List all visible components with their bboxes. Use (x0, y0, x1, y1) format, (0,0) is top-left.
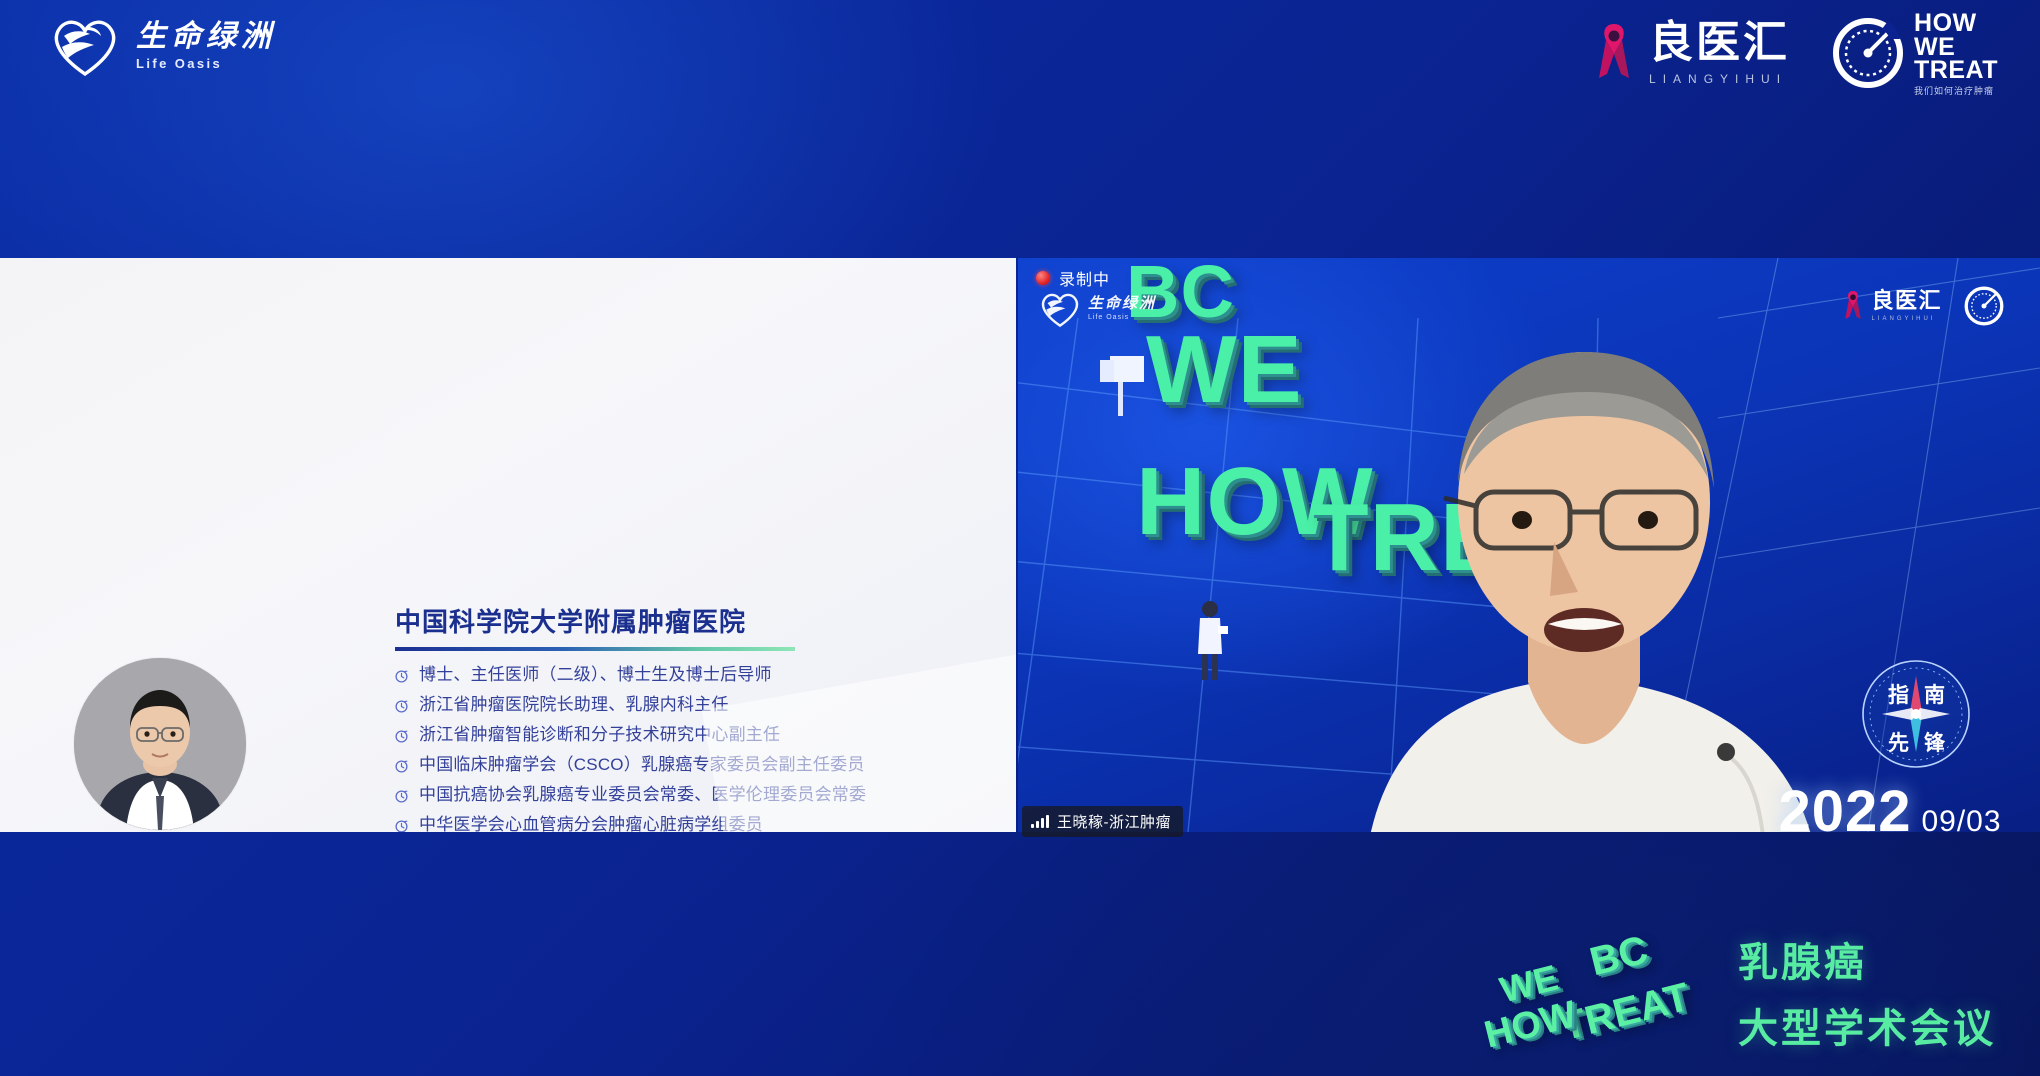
video-overlay-logos: 良医汇 LIANGYIHUI (1842, 286, 2004, 326)
video-presenter (1328, 306, 1888, 832)
credential-text: 浙江省肿瘤医院院长助理、乳腺内科主任 (419, 695, 729, 716)
credential-item: 中国抗癌协会乳腺癌专业委员会常委、医学伦理委员会常委 (395, 785, 992, 808)
liangyihui-cn: 良医汇 (1649, 21, 1790, 65)
credential-text: 博士、主任医师（二级）、博士生及博士后导师 (419, 665, 772, 686)
credential-text: 中华医学会心血管病分会肿瘤心脏病学组委员 (419, 815, 763, 832)
bottom-brand-3d-words: BC WE TREAT HOW (1482, 932, 1712, 1052)
header-logos: 良医汇 LIANGYIHUI HOW WE TREAT 我们如何治疗肿瘤 (1593, 12, 1998, 95)
clock-bullet-icon (395, 700, 408, 718)
pink-ribbon-icon (1842, 289, 1864, 323)
video-oasis-cn: 生命绿洲 (1088, 297, 1156, 312)
video-lyh-en: LIANGYIHUI (1871, 316, 1942, 322)
vb-word-we: WE (1146, 326, 1303, 414)
liangyihui-logo: 良医汇 LIANGYIHUI (1593, 20, 1790, 86)
recording-indicator: 录制中 (1036, 266, 1110, 290)
life-oasis-cn: 生命绿洲 (136, 21, 276, 53)
clock-bullet-icon (395, 760, 408, 778)
credential-text: 浙江省肿瘤智能诊断和分子技术研究中心副主任 (419, 725, 780, 746)
vb-figure-person-icon (1190, 600, 1234, 680)
credential-item: 中华医学会心血管病分会肿瘤心脏病学组委员 (395, 815, 992, 832)
compass-icon: 指 南 先 锋 (1860, 658, 1972, 770)
hwt-sub: 我们如何治疗肿瘤 (1914, 87, 1998, 95)
credential-item: 浙江省肿瘤医院院长助理、乳腺内科主任 (395, 695, 992, 718)
clock-bullet-icon (395, 730, 408, 748)
video-feed[interactable]: BC WE HOW TREAT (1018, 258, 2040, 832)
credential-item: 博士、主任医师（二级）、博士生及博士后导师 (395, 665, 992, 688)
slide-content: 中国科学院大学附属肿瘤医院 博士、主任医师（二级）、博士生及博士后导师浙江省肿瘤… (395, 602, 992, 832)
speaker-tag-label: 王晓稼-浙江肿瘤 (1057, 811, 1171, 832)
title-underline (395, 647, 795, 651)
life-oasis-heart-logo (48, 14, 122, 78)
bottom-brand-cn-1: 乳腺癌 (1738, 930, 1996, 988)
life-oasis-logo: 生命绿洲 Life Oasis (48, 14, 276, 78)
clock-bullet-icon (395, 790, 408, 808)
event-month-day: 09/03 (1921, 805, 2001, 832)
video-oasis-en: Life Oasis (1088, 314, 1156, 321)
life-oasis-en: Life Oasis (136, 56, 222, 71)
credentials-list: 博士、主任医师（二级）、博士生及博士后导师浙江省肿瘤医院院长助理、乳腺内科主任浙… (395, 665, 992, 832)
bb-word-how: HOW (1481, 995, 1580, 1054)
life-oasis-heart-icon (1038, 290, 1082, 328)
bottom-brand: BC WE TREAT HOW 乳腺癌 大型学术会议 (1482, 930, 1996, 1054)
speedometer-icon (1832, 17, 1904, 89)
liangyihui-en: LIANGYIHUI (1649, 72, 1790, 86)
compass-char-br: 锋 (1924, 731, 1946, 755)
recording-label: 录制中 (1059, 266, 1110, 290)
video-oasis-watermark: 生命绿洲 Life Oasis (1038, 290, 1156, 328)
pink-ribbon-icon (1593, 20, 1635, 86)
presentation-slide[interactable]: 王晓稼 教授 2022 HOW WE TREAT 乳 腺 癌 大 型 学 术 会… (0, 258, 1016, 832)
credential-text: 中国临床肿瘤学会（CSCO）乳腺癌专家委员会副主任委员 (419, 755, 865, 776)
vb-figure-screen-icon (1096, 356, 1156, 446)
video-lyh-cn: 良医汇 (1871, 290, 1942, 312)
hwt-line1: HOW (1914, 12, 1998, 36)
hwt-line3: TREAT (1914, 59, 1998, 83)
bb-word-treat: TREAT (1557, 977, 1693, 1047)
slide-title: 中国科学院大学附属肿瘤医院 (395, 602, 992, 645)
clock-bullet-icon (395, 820, 408, 832)
video-liangyihui-logo: 良医汇 LIANGYIHUI (1842, 289, 1942, 323)
compass-char-bl: 先 (1888, 732, 1909, 755)
credential-text: 中国抗癌协会乳腺癌专业委员会常委、医学伦理委员会常委 (419, 785, 866, 806)
compass-char-tl: 指 (1888, 684, 1909, 707)
speaker-portrait (74, 658, 246, 830)
event-date-block: 2022 09/03 我们如何治疗乳腺癌 系列大型学术会议 (1770, 778, 2010, 832)
compass-char-tr: 南 (1924, 683, 1945, 707)
how-we-treat-logo: HOW WE TREAT 我们如何治疗肿瘤 (1832, 12, 1998, 95)
record-dot-icon (1036, 271, 1050, 285)
event-year: 2022 (1778, 778, 1911, 832)
credential-item: 浙江省肿瘤智能诊断和分子技术研究中心副主任 (395, 725, 992, 748)
signal-bars-icon (1031, 815, 1049, 828)
video-speaker-tag: 王晓稼-浙江肿瘤 (1022, 806, 1183, 837)
bottom-brand-cn-2: 大型学术会议 (1738, 996, 1996, 1054)
bb-word-bc: BC (1586, 930, 1652, 983)
clock-bullet-icon (395, 670, 408, 688)
credential-item: 中国临床肿瘤学会（CSCO）乳腺癌专家委员会副主任委员 (395, 755, 992, 778)
bottom-brand-cn: 乳腺癌 大型学术会议 (1738, 930, 1996, 1054)
speedometer-icon (1964, 286, 2004, 326)
portrait-illustration (74, 658, 246, 830)
